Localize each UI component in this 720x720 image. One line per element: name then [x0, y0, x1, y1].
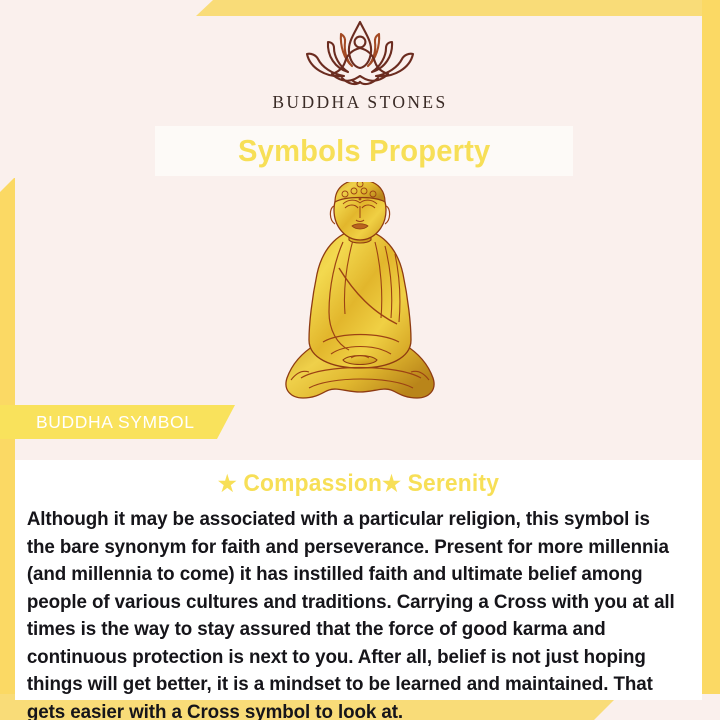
ribbon-label: BUDDHA SYMBOL	[0, 405, 235, 439]
brand-block: BUDDHA STONES	[0, 12, 720, 113]
ribbon-label-text: BUDDHA SYMBOL	[0, 412, 195, 433]
buddha-illustration-wrap	[0, 182, 720, 414]
content-headline: ★ Compassion★ Serenity	[32, 470, 685, 498]
infographic-poster: BUDDHA STONES Symbols Property	[0, 0, 720, 720]
headline-word-compassion: Compassion	[243, 470, 382, 497]
page-title: Symbols Property	[238, 133, 490, 169]
title-banner: Symbols Property	[155, 126, 573, 176]
headline-word-serenity: Serenity	[408, 470, 499, 497]
seated-golden-buddha-icon	[257, 182, 463, 414]
lotus-meditation-icon	[294, 12, 426, 90]
content-card: ★ Compassion★ Serenity Although it may b…	[15, 460, 702, 700]
brand-name: BUDDHA STONES	[0, 92, 720, 113]
star-icon-1: ★	[218, 471, 237, 496]
body-paragraph: Although it may be associated with a par…	[15, 506, 692, 720]
star-icon-2: ★	[382, 471, 401, 496]
